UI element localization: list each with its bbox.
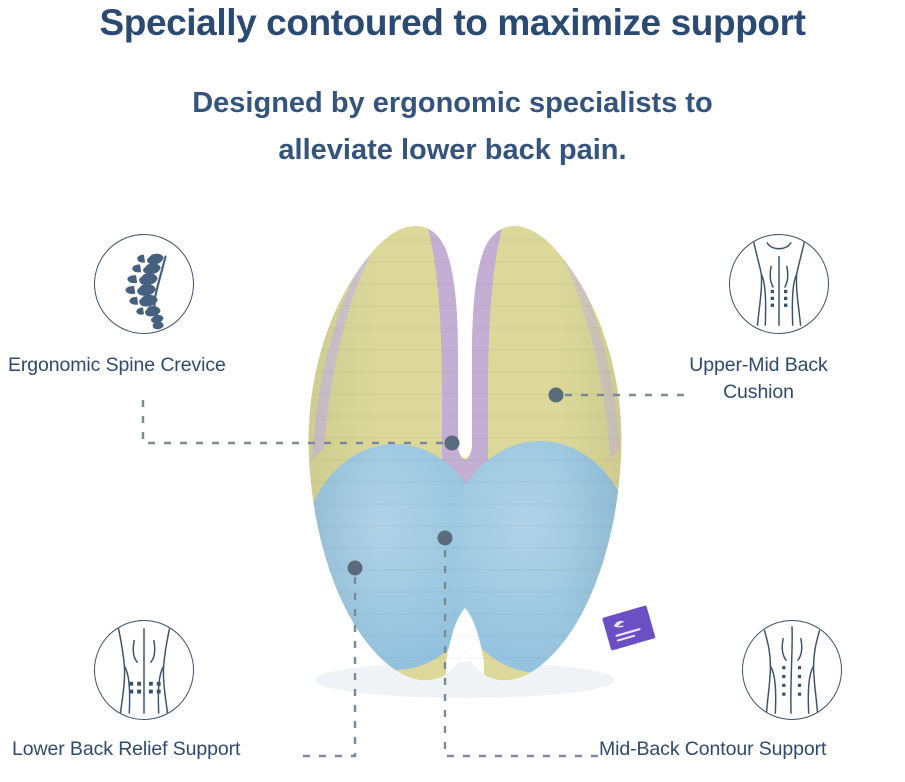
brand-tag <box>602 605 656 650</box>
feature-label-upper-mid-back: Upper-Mid Back Cushion <box>688 352 829 407</box>
feature-mid-back-contour-support[interactable]: Mid-Back Contour Support <box>742 620 842 763</box>
feature-label-spine-crevice: Ergonomic Spine Crevice <box>8 352 226 379</box>
lower-back-pressure-points <box>129 682 160 694</box>
feature-label-lower-back: Lower Back Relief Support <box>12 736 240 763</box>
subtitle-line-1: Designed by ergonomic specialists to <box>192 87 713 119</box>
subtitle-line-2: alleviate lower back pain. <box>0 127 905 174</box>
upper-back-icon <box>729 234 829 334</box>
spine-icon <box>94 234 194 334</box>
brand-tag-fabric <box>602 605 656 650</box>
feature-ergonomic-spine-crevice[interactable]: Ergonomic Spine Crevice <box>86 234 226 379</box>
feature-label-line-1: Upper-Mid Back <box>689 354 827 376</box>
lower-back-body <box>119 629 170 713</box>
page-title: Specially contoured to maximize support <box>0 2 905 45</box>
mid-back-body <box>765 627 820 713</box>
lower-back-icon <box>94 620 194 720</box>
feature-label-line-2: Cushion <box>723 381 794 403</box>
product-image <box>250 210 680 710</box>
infographic-canvas: Specially contoured to maximize support … <box>0 0 905 782</box>
upper-back-body <box>754 241 805 325</box>
feature-upper-mid-back-cushion[interactable]: Upper-Mid Back Cushion <box>729 234 829 407</box>
spine-vertebrae <box>125 254 163 330</box>
page-subtitle: Designed by ergonomic specialists to all… <box>0 80 905 174</box>
feature-label-mid-back: Mid-Back Contour Support <box>599 736 842 763</box>
mid-back-icon <box>742 620 842 720</box>
product-shadow <box>315 662 615 698</box>
feature-lower-back-relief-support[interactable]: Lower Back Relief Support <box>94 620 240 763</box>
